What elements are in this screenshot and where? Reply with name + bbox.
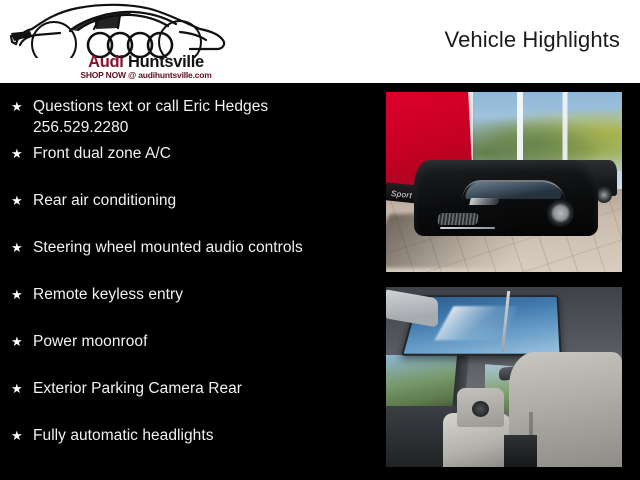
- star-bullet-icon: ★: [8, 378, 33, 399]
- interior-center-console: [504, 435, 537, 467]
- highlight-item: ★Power moonroof: [8, 331, 376, 352]
- vehicle-lower-chrome-trim: [440, 227, 496, 229]
- star-bullet-icon: ★: [8, 237, 33, 258]
- interior-rear-left-window: [386, 355, 457, 413]
- highlight-item-label: Fully automatic headlights: [33, 425, 376, 446]
- vehicle-wheel-rear: [547, 199, 575, 227]
- exterior-photo-scene: Sport: [386, 92, 622, 272]
- highlight-item-label: Rear air conditioning: [33, 190, 376, 211]
- interior-photo-scene: [386, 287, 622, 467]
- star-bullet-icon: ★: [8, 96, 33, 117]
- highlight-item: ★Questions text or call Eric Hedges256.5…: [8, 96, 376, 138]
- star-bullet-icon: ★: [8, 331, 33, 352]
- logo-brand-huntsville: Huntsville: [128, 53, 204, 71]
- logo-tagline: SHOP NOW @ audihuntsville.com: [56, 70, 236, 80]
- star-bullet-icon: ★: [8, 284, 33, 305]
- vehicle-headlight: [469, 198, 500, 205]
- dealer-logo[interactable]: Audi Huntsville SHOP NOW @ audihuntsvill…: [8, 0, 238, 83]
- highlight-item: ★Exterior Parking Camera Rear: [8, 378, 376, 399]
- highlight-item-subline: 256.529.2280: [33, 117, 376, 138]
- highlight-item-label: Power moonroof: [33, 331, 376, 352]
- audi-sports-car-silhouette-icon: [8, 0, 238, 58]
- star-bullet-icon: ★: [8, 190, 33, 211]
- highlight-item: ★Fully automatic headlights: [8, 425, 376, 446]
- headrest-cutout: [472, 401, 489, 417]
- content-area: ★Questions text or call Eric Hedges256.5…: [0, 83, 640, 480]
- logo-brand-audi: Audi: [88, 53, 123, 71]
- highlight-item: ★Front dual zone A/C: [8, 143, 376, 164]
- highlight-item-label: Exterior Parking Camera Rear: [33, 378, 376, 399]
- featured-vehicle-body: [414, 160, 598, 236]
- highlight-item-label: Front dual zone A/C: [33, 143, 376, 164]
- interior-seat-headrest: [457, 388, 504, 428]
- highlight-item: ★Remote keyless entry: [8, 284, 376, 305]
- interior-photo[interactable]: [386, 287, 622, 467]
- vehicle-highlights-list: ★Questions text or call Eric Hedges256.5…: [0, 83, 380, 480]
- highlight-item-label: Questions text or call Eric Hedges256.52…: [33, 96, 376, 138]
- highlight-item-label: Remote keyless entry: [33, 284, 376, 305]
- star-bullet-icon: ★: [8, 425, 33, 446]
- page-title: Vehicle Highlights: [445, 27, 620, 53]
- highlight-item: ★Rear air conditioning: [8, 190, 376, 211]
- header-bar: Audi Huntsville SHOP NOW @ audihuntsvill…: [0, 0, 640, 83]
- highlight-item-label: Steering wheel mounted audio controls: [33, 237, 376, 258]
- star-bullet-icon: ★: [8, 143, 33, 164]
- highlight-item: ★Steering wheel mounted audio controls: [8, 237, 376, 258]
- vehicle-highlights-slide: Audi Huntsville SHOP NOW @ audihuntsvill…: [0, 0, 640, 480]
- logo-wordmark: Audi Huntsville: [56, 54, 236, 71]
- exterior-photo[interactable]: Sport: [386, 92, 622, 272]
